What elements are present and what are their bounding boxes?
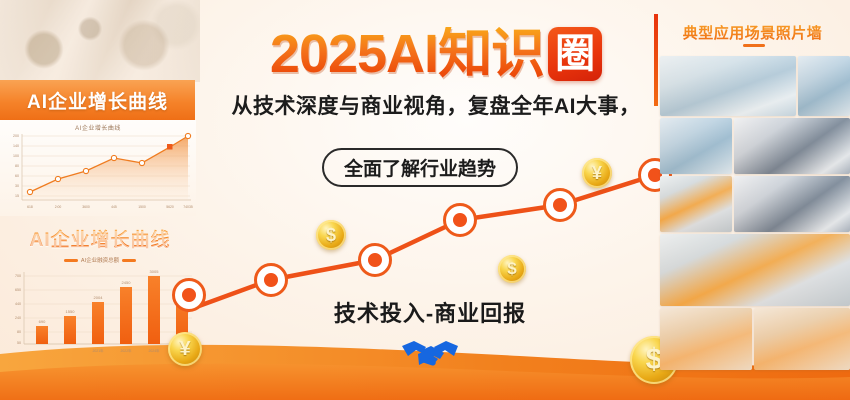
- svg-text:2:00: 2:00: [55, 205, 62, 209]
- photo-doctor-laptop[interactable]: [734, 176, 850, 232]
- svg-text:100: 100: [13, 154, 19, 158]
- photo-smart-factory[interactable]: [660, 234, 850, 306]
- svg-text:1550: 1550: [66, 309, 76, 314]
- page-subtitle: 从技术深度与商业视角，复盘全年AI大事，: [196, 90, 676, 120]
- page-title-part-1: 2025AI: [270, 27, 438, 81]
- svg-text:2022年: 2022年: [121, 348, 133, 353]
- coin-dollar-center: $: [498, 255, 526, 283]
- trend-point-3[interactable]: [358, 243, 392, 277]
- svg-text:30: 30: [15, 184, 19, 188]
- page-title: 2025AI 知识 圈: [196, 24, 676, 84]
- trend-point-2[interactable]: [254, 263, 288, 297]
- footer-label: 技术投入-商业回报: [250, 296, 610, 328]
- svg-text:80: 80: [15, 164, 19, 168]
- page-title-box-char: 圈: [548, 27, 602, 81]
- svg-text:2004: 2004: [94, 295, 104, 300]
- left-banner-top-label: AI企业增长曲线: [27, 87, 168, 114]
- page-title-part-2: 知识: [438, 27, 544, 81]
- svg-text:140: 140: [13, 144, 19, 148]
- coin-symbol: ¥: [179, 338, 190, 361]
- left-line-chart-caption: AI企业增长曲线: [0, 123, 196, 132]
- legend-swatch-2: [122, 259, 136, 262]
- trend-point-4[interactable]: [443, 203, 477, 237]
- svg-text:690: 690: [39, 319, 46, 324]
- svg-text:1500: 1500: [138, 205, 146, 209]
- trend-pill-button[interactable]: 全面了解行业趋势: [322, 148, 518, 187]
- svg-text:650: 650: [15, 288, 21, 292]
- photo-grid: [660, 56, 850, 376]
- photo-wall-title: 典型应用场景照片墙: [655, 22, 850, 43]
- svg-text:445: 445: [111, 205, 117, 209]
- svg-text:2021年: 2021年: [93, 348, 105, 353]
- coin-symbol: $: [326, 225, 336, 246]
- photo-open-office[interactable]: [660, 176, 732, 232]
- photo-wall-underline: [743, 44, 765, 47]
- coin-yen-left: ¥: [168, 332, 202, 366]
- svg-text:440: 440: [15, 302, 21, 306]
- svg-text:240: 240: [15, 316, 21, 320]
- coin-symbol: ¥: [592, 163, 602, 184]
- svg-text:2450: 2450: [122, 280, 132, 285]
- photo-medical-team[interactable]: [660, 56, 796, 116]
- photo-lab-technician[interactable]: [660, 118, 732, 174]
- coin-symbol: $: [507, 259, 516, 279]
- svg-text:200: 200: [13, 134, 19, 138]
- svg-text:3600: 3600: [82, 205, 90, 209]
- svg-text:618: 618: [27, 205, 33, 209]
- trend-point-5[interactable]: [543, 188, 577, 222]
- svg-text:80: 80: [17, 330, 21, 334]
- poster-canvas: AI企业增长曲线 AI企业增长曲线: [0, 0, 850, 400]
- svg-text:60: 60: [15, 174, 19, 178]
- legend-swatch: [64, 259, 78, 262]
- photo-office-workstation[interactable]: [734, 118, 850, 174]
- svg-text:15: 15: [15, 194, 19, 198]
- svg-text:2024年: 2024年: [149, 348, 161, 353]
- svg-text:50: 50: [17, 341, 21, 345]
- svg-text:3005: 3005: [150, 269, 160, 274]
- left-banner-bottom-label: AI企业增长曲线: [29, 225, 170, 252]
- left-top-photo: [0, 0, 200, 82]
- trend-point-1[interactable]: [172, 278, 206, 312]
- photo-logistics-hall[interactable]: [754, 308, 850, 370]
- photo-engineer-terminal[interactable]: [798, 56, 850, 116]
- right-panel: 典型应用场景照片墙: [655, 0, 850, 400]
- photo-warehouse-robot[interactable]: [660, 308, 752, 370]
- coin-yen-upper: ¥: [582, 158, 612, 188]
- svg-text:700: 700: [15, 274, 21, 278]
- handshake-icon: [398, 332, 462, 372]
- left-banner-top: AI企业增长曲线: [0, 80, 195, 120]
- coin-dollar-mid: $: [316, 220, 346, 250]
